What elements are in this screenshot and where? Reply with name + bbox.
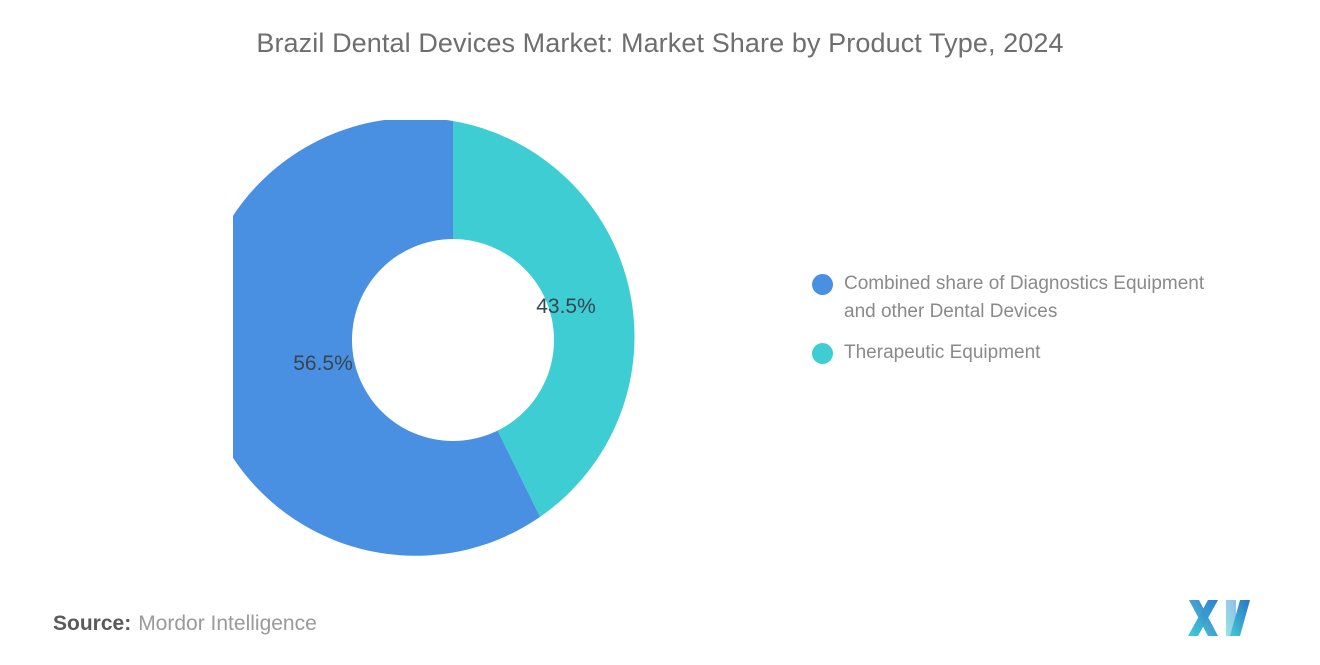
slice-value-label-therapeutic: 43.5% [536, 295, 596, 318]
source-attribution: Source:Mordor Intelligence [53, 612, 317, 636]
legend-item-therapeutic-equipment[interactable]: Therapeutic Equipment [812, 339, 1232, 367]
page-title: Brazil Dental Devices Market: Market Sha… [0, 28, 1320, 59]
legend-item-label: Therapeutic Equipment [844, 339, 1040, 367]
circle-marker-icon-teal [812, 343, 833, 364]
donut-chart-svg: 43.5% 56.5% [233, 120, 673, 560]
donut-chart: 43.5% 56.5% [233, 120, 673, 560]
source-value: Mordor Intelligence [138, 612, 317, 635]
donut-center-hole [352, 239, 554, 441]
legend-item-combined-diagnostics[interactable]: Combined share of Diagnostics Equipment … [812, 270, 1232, 325]
slice-value-label-combined: 56.5% [293, 352, 353, 375]
mordor-intelligence-logo-icon [1186, 598, 1252, 638]
source-label: Source: [53, 612, 131, 635]
chart-legend: Combined share of Diagnostics Equipment … [812, 270, 1232, 381]
legend-item-label: Combined share of Diagnostics Equipment … [844, 270, 1219, 325]
circle-marker-icon-blue [812, 274, 833, 295]
